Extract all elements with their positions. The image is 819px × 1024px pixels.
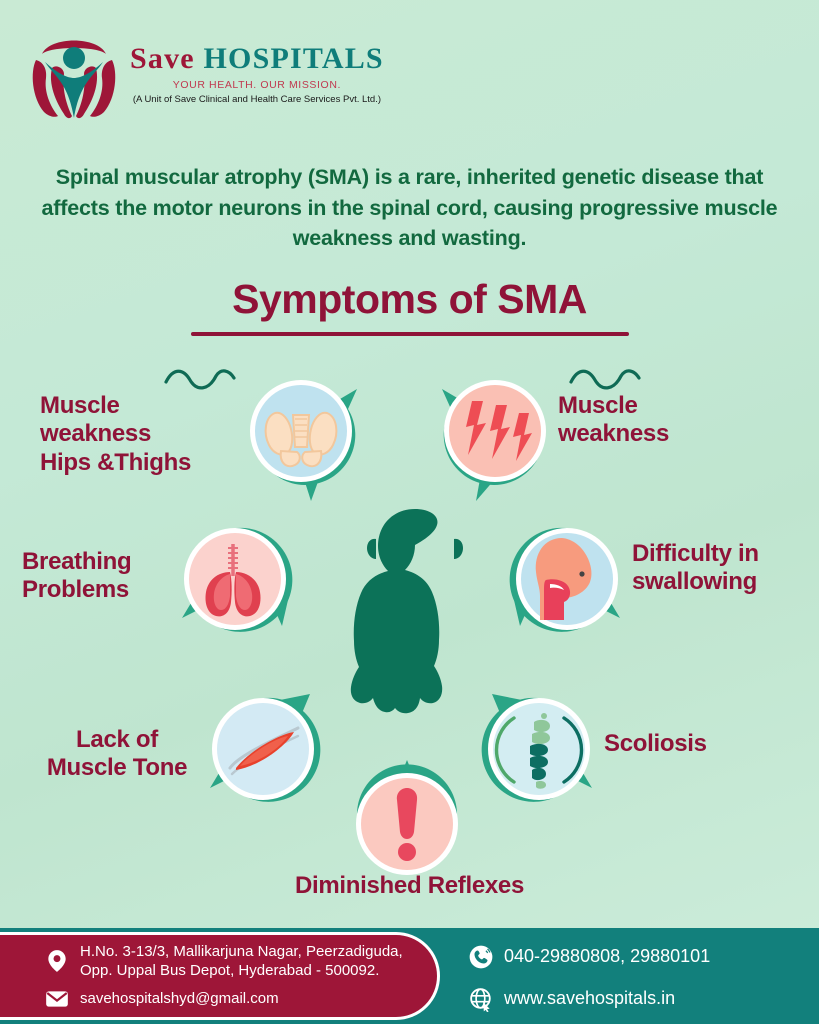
symptom-bubble-reflexes[interactable] [348,760,466,888]
squiggle-decor-left [163,366,237,392]
hands-person-logo-icon [28,26,120,124]
brand-logo: Save HOSPITALS YOUR HEALTH. OUR MISSION.… [28,26,384,124]
footer-website-row[interactable]: www.savehospitals.in [468,986,675,1012]
symptom-label-swallowing: Difficulty in swallowing [632,540,812,597]
symptom-label-scoliosis: Scoliosis [604,730,784,758]
footer-email-row[interactable]: savehospitalshyd@gmail.com [44,986,279,1012]
globe-icon [468,986,494,1012]
envelope-icon [44,986,70,1012]
symptom-bubble-breathing[interactable] [178,522,296,650]
phone-icon [468,944,494,970]
footer-website: www.savehospitals.in [504,987,675,1010]
symptom-label-breathing: Breathing Problems [22,548,182,605]
symptom-bubble-scoliosis[interactable] [478,692,596,820]
brand-name: Save HOSPITALS [130,42,384,76]
intro-paragraph: Spinal muscular atrophy (SMA) is a rare,… [30,162,789,254]
exclamation-icon [397,788,417,861]
symptom-bubble-muscle-tone[interactable] [206,692,324,820]
map-pin-icon [44,948,70,974]
brand-name-part2: HOSPITALS [204,42,384,75]
footer-address-row: H.No. 3-13/3, Mallikarjuna Nagar, Peerza… [44,942,403,980]
symptom-bubble-hips-thighs[interactable] [245,375,363,503]
squiggle-decor-right [568,366,642,392]
symptom-bubble-swallowing[interactable] [506,522,624,650]
symptom-label-reflexes: Diminished Reflexes [0,872,819,900]
symptom-label-hips-thighs: Muscle weakness Hips &Thighs [40,392,255,477]
symptom-bubble-muscle-weakness[interactable] [436,375,554,503]
brand-name-part1: Save [130,42,195,75]
symptom-label-muscle-weakness: Muscle weakness [558,392,788,449]
baby-silhouette [330,505,500,720]
footer-phone: 040-29880808, 29880101 [504,945,710,968]
infographic-poster: Save HOSPITALS YOUR HEALTH. OUR MISSION.… [0,0,819,1024]
footer-address: H.No. 3-13/3, Mallikarjuna Nagar, Peerza… [80,942,403,980]
footer-bar: H.No. 3-13/3, Mallikarjuna Nagar, Peerza… [0,928,819,1024]
footer-email: savehospitalshyd@gmail.com [80,989,279,1008]
page-title: Symptoms of SMA [0,276,819,323]
title-underline [191,332,629,336]
brand-subline: (A Unit of Save Clinical and Health Care… [130,94,384,105]
page-title-block: Symptoms of SMA [0,276,819,336]
footer-phone-row[interactable]: 040-29880808, 29880101 [468,944,710,970]
brand-tagline: YOUR HEALTH. OUR MISSION. [130,79,384,91]
symptom-label-muscle-tone: Lack of Muscle Tone [22,726,212,783]
